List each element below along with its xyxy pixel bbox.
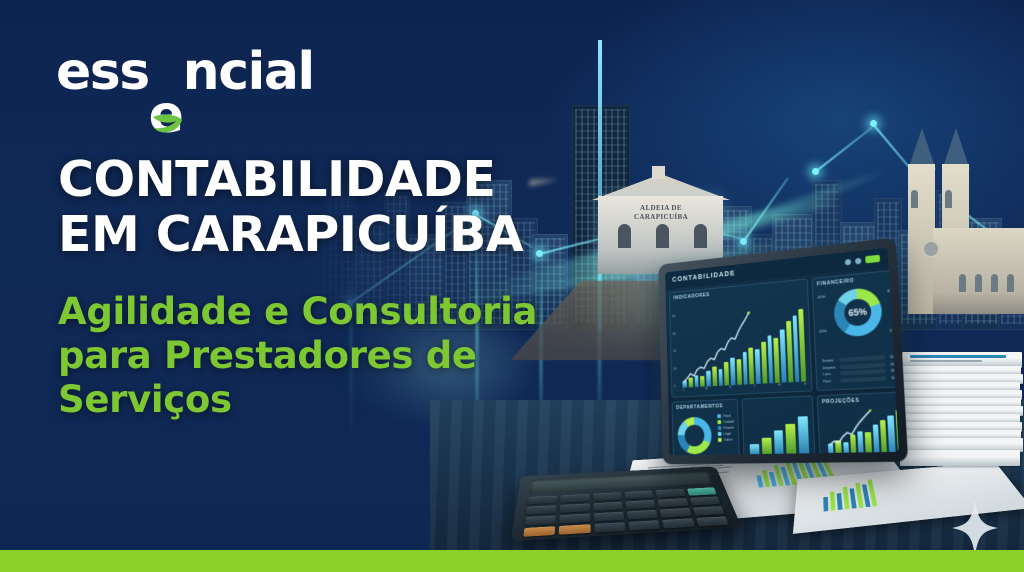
page-title: CONTABILIDADE EM CARAPICUÍBA (58, 152, 638, 262)
headline-line-2: EM CARAPICUÍBA (58, 206, 523, 263)
paper-stack (900, 352, 1024, 478)
panel-forecast[interactable]: PROJEÇÕES (817, 391, 899, 455)
brand-logo[interactable]: essencial (56, 44, 314, 100)
forecast-bars (826, 407, 898, 456)
page-subtitle: Agilidade e Consultoria para Prestadores… (58, 290, 578, 422)
panel-forecast-title: PROJEÇÕES (822, 398, 860, 406)
footer-accent-bar (0, 550, 1024, 572)
hbar-row: Receita 82% (822, 355, 897, 364)
legend-item: Legal (718, 432, 734, 436)
tablet-screen[interactable]: CONTABILIDADE INDICADORES 80 60 40 20 (665, 248, 899, 456)
distribution-donut-chart (677, 417, 712, 455)
logo-text-pre: ess (56, 42, 149, 102)
hero-banner: ALDEIA DE CARAPICUÍBA (0, 0, 1024, 572)
panel-distribution-title: DEPARTAMENTOS (676, 403, 723, 411)
logo-text-post: ncial (183, 42, 314, 102)
panel-finance-title: FINANCEIRO (817, 278, 855, 288)
donut-label-3: 25% (819, 328, 827, 334)
main-chart-trendline (681, 307, 753, 387)
legend-item: Outros (718, 438, 734, 442)
forecast-trendline (826, 408, 874, 456)
finance-hbar-chart: Receita 82% Despesa 64% Lucro 55% (822, 355, 898, 386)
donut-center-label: 65% (848, 306, 867, 318)
panel-finance[interactable]: FINANCEIRO 65% 20% 40% 25% 15% Receita 8… (812, 269, 899, 391)
dashboard-title: CONTABILIDADE (672, 270, 735, 283)
sparkle-accent (952, 500, 998, 556)
hbar-row: Lucro 55% (823, 368, 898, 376)
distribution-legend: Fiscal Contábil Pessoal Legal Outros (718, 414, 735, 444)
monthly-bars (749, 413, 810, 455)
cathedral-landmark (897, 128, 1024, 314)
finance-donut-chart: 65% (833, 287, 883, 338)
panel-main-title: INDICADORES (673, 292, 709, 301)
panel-monthly[interactable]: Jan Fev Mar Abr Mai (742, 395, 816, 455)
panel-distribution[interactable]: DEPARTAMENTOS Fiscal Contábil Pessoal Le… (672, 399, 740, 456)
legend-item: Fiscal (718, 414, 734, 419)
user-icon[interactable] (845, 258, 851, 265)
gear-icon[interactable] (855, 257, 861, 264)
leaf-icon (151, 111, 185, 137)
tablet-device[interactable]: CONTABILIDADE INDICADORES 80 60 40 20 (658, 237, 908, 464)
donut-label-1: 20% (817, 294, 825, 300)
calculator-keypad (523, 487, 728, 537)
hbar-row: Despesa 64% (822, 361, 897, 369)
legend-item: Contábil (718, 420, 734, 424)
legend-item: Pessoal (718, 426, 734, 430)
battery-icon (865, 255, 880, 264)
headline-line-1: CONTABILIDADE (58, 151, 495, 208)
panel-main-chart[interactable]: INDICADORES 80 60 40 20 0 (669, 278, 813, 397)
